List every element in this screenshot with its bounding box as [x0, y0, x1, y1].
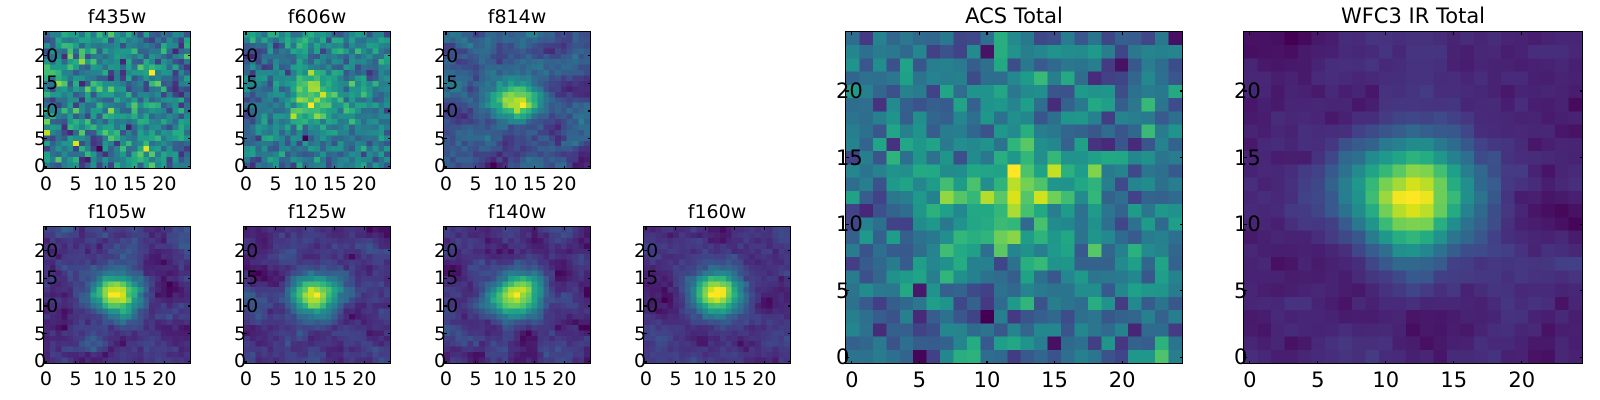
ytick-mark-right: [388, 361, 392, 362]
xtick-label: 20: [552, 369, 576, 389]
xtick-mark-top: [475, 31, 476, 35]
ytick-mark-right: [388, 166, 392, 167]
ytick-mark-right: [388, 55, 392, 56]
panel-title-f105w: f105w: [43, 201, 191, 223]
ytick-mark-right: [588, 138, 592, 139]
xtick-mark-top: [75, 226, 76, 230]
xtick-label: 20: [152, 174, 176, 194]
xtick-label: 15: [1440, 369, 1467, 391]
ytick-mark-right: [1180, 357, 1184, 358]
xtick-mark-top: [1521, 31, 1522, 35]
ytick-mark-right: [588, 110, 592, 111]
xtick-mark-top: [275, 31, 276, 35]
xtick-mark-top: [1317, 31, 1318, 35]
xtick-label: 10: [293, 174, 317, 194]
xtick-label: 0: [1243, 369, 1256, 391]
xtick-mark: [734, 361, 735, 365]
ytick-mark-right: [588, 250, 592, 251]
ytick-mark-right: [188, 305, 192, 306]
xtick-label: 10: [293, 369, 317, 389]
xtick-mark: [334, 361, 335, 365]
xtick-mark: [305, 361, 306, 365]
xtick-label: 10: [1372, 369, 1399, 391]
xtick-mark: [364, 361, 365, 365]
xtick-mark: [1453, 361, 1454, 365]
xtick-label: 15: [523, 174, 547, 194]
panel-title-f814w: f814w: [443, 6, 591, 28]
xtick-label: 5: [270, 369, 282, 389]
ytick-mark-right: [1580, 90, 1584, 91]
heatmap-image-f814w: [444, 32, 590, 168]
xtick-mark: [275, 361, 276, 365]
xtick-mark: [675, 361, 676, 365]
xtick-mark-top: [505, 31, 506, 35]
xtick-label: 20: [752, 369, 776, 389]
heatmap-image-f140w: [444, 227, 590, 363]
xtick-label: 5: [1311, 369, 1324, 391]
panel-f140w: f140w0055101015152020: [443, 226, 591, 364]
ytick-mark-right: [388, 83, 392, 84]
ytick-mark-right: [188, 166, 192, 167]
xtick-mark: [364, 166, 365, 170]
xtick-mark-top: [475, 226, 476, 230]
ytick-mark-right: [188, 83, 192, 84]
xtick-label: 10: [974, 369, 1001, 391]
heatmap-image-f105w: [44, 227, 190, 363]
xtick-mark: [164, 361, 165, 365]
heatmap-image-acs_total: [846, 32, 1182, 363]
xtick-mark-top: [764, 226, 765, 230]
ytick-mark-right: [788, 361, 792, 362]
ytick-mark-right: [388, 110, 392, 111]
xtick-mark: [764, 361, 765, 365]
xtick-label: 10: [493, 369, 517, 389]
ytick-mark-right: [188, 138, 192, 139]
image-frame-acs_total: [845, 31, 1183, 364]
xtick-mark: [134, 166, 135, 170]
xtick-mark-top: [275, 226, 276, 230]
xtick-label: 5: [913, 369, 926, 391]
xtick-label: 15: [123, 369, 147, 389]
xtick-mark: [75, 361, 76, 365]
xtick-mark-top: [986, 31, 987, 35]
xtick-mark-top: [364, 226, 365, 230]
ytick-mark-right: [788, 333, 792, 334]
xtick-mark-top: [45, 226, 46, 230]
panel-title-f606w: f606w: [243, 6, 391, 28]
xtick-mark: [334, 166, 335, 170]
ytick-mark-right: [1580, 290, 1584, 291]
ytick-mark-right: [188, 55, 192, 56]
xtick-label: 20: [352, 369, 376, 389]
xtick-mark: [1122, 361, 1123, 365]
xtick-mark-top: [334, 226, 335, 230]
xtick-mark: [105, 361, 106, 365]
xtick-label: 20: [552, 174, 576, 194]
xtick-mark-top: [164, 226, 165, 230]
xtick-mark-top: [675, 226, 676, 230]
image-frame-f140w: [443, 226, 591, 364]
xtick-mark-top: [164, 31, 165, 35]
image-frame-f125w: [243, 226, 391, 364]
ytick-mark-right: [388, 305, 392, 306]
xtick-mark-top: [1054, 31, 1055, 35]
xtick-mark: [505, 166, 506, 170]
xtick-mark: [305, 166, 306, 170]
ytick-mark-right: [588, 83, 592, 84]
ytick-mark-right: [188, 278, 192, 279]
xtick-mark-top: [245, 226, 246, 230]
xtick-mark-top: [919, 31, 920, 35]
ytick-mark-right: [188, 361, 192, 362]
ytick-mark-right: [588, 55, 592, 56]
xtick-label: 15: [323, 174, 347, 194]
xtick-mark: [475, 361, 476, 365]
ytick-mark-right: [188, 250, 192, 251]
figure-canvas: f435w0055101015152020f606w00551010151520…: [0, 0, 1600, 400]
ytick-mark-right: [588, 166, 592, 167]
ytick-mark-right: [788, 305, 792, 306]
xtick-mark-top: [564, 226, 565, 230]
image-frame-f814w: [443, 31, 591, 169]
xtick-label: 20: [1508, 369, 1535, 391]
image-frame-f160w: [643, 226, 791, 364]
xtick-mark: [1054, 361, 1055, 365]
xtick-label: 20: [152, 369, 176, 389]
image-frame-wfc3_ir_total: [1243, 31, 1583, 364]
xtick-mark: [1385, 361, 1386, 365]
xtick-mark-top: [75, 31, 76, 35]
ytick-mark-right: [588, 278, 592, 279]
ytick-mark-right: [1180, 90, 1184, 91]
ytick-mark-right: [1180, 290, 1184, 291]
xtick-mark-top: [105, 31, 106, 35]
xtick-label: 5: [270, 174, 282, 194]
panel-title-acs_total: ACS Total: [845, 4, 1183, 28]
xtick-label: 5: [470, 174, 482, 194]
panel-f160w: f160w0055101015152020: [643, 226, 791, 364]
ytick-mark-right: [588, 333, 592, 334]
ytick-mark-right: [788, 278, 792, 279]
xtick-mark-top: [105, 226, 106, 230]
image-frame-f105w: [43, 226, 191, 364]
image-frame-f606w: [243, 31, 391, 169]
xtick-mark-top: [705, 226, 706, 230]
ytick-mark-right: [188, 110, 192, 111]
xtick-mark-top: [1122, 31, 1123, 35]
xtick-mark-top: [445, 31, 446, 35]
ytick-mark-right: [388, 333, 392, 334]
ytick-mark-right: [1580, 157, 1584, 158]
xtick-label: 5: [670, 369, 682, 389]
panel-f435w: f435w0055101015152020: [43, 31, 191, 169]
ytick-mark-right: [388, 138, 392, 139]
ytick-mark-right: [388, 250, 392, 251]
xtick-mark: [275, 166, 276, 170]
heatmap-image-f160w: [644, 227, 790, 363]
panel-wfc3_ir_total: WFC3 IR Total0055101015152020: [1243, 31, 1583, 364]
xtick-mark-top: [334, 31, 335, 35]
panel-f105w: f105w0055101015152020: [43, 226, 191, 364]
xtick-label: 10: [693, 369, 717, 389]
ytick-mark-right: [1180, 224, 1184, 225]
xtick-mark: [851, 361, 852, 365]
xtick-mark-top: [1453, 31, 1454, 35]
xtick-label: 20: [1109, 369, 1136, 391]
xtick-mark: [105, 166, 106, 170]
xtick-mark-top: [445, 226, 446, 230]
panel-title-f125w: f125w: [243, 201, 391, 223]
xtick-mark: [986, 361, 987, 365]
xtick-mark: [534, 166, 535, 170]
xtick-mark-top: [1249, 31, 1250, 35]
heatmap-image-f125w: [244, 227, 390, 363]
xtick-mark: [564, 166, 565, 170]
panel-title-wfc3_ir_total: WFC3 IR Total: [1243, 4, 1583, 28]
xtick-label: 10: [93, 369, 117, 389]
panel-title-f140w: f140w: [443, 201, 591, 223]
image-frame-f435w: [43, 31, 191, 169]
xtick-mark-top: [1385, 31, 1386, 35]
panel-title-f435w: f435w: [43, 6, 191, 28]
xtick-mark-top: [305, 226, 306, 230]
xtick-label: 10: [93, 174, 117, 194]
xtick-label: 10: [493, 174, 517, 194]
panel-acs_total: ACS Total0055101015152020: [845, 31, 1183, 364]
ytick-mark-right: [188, 333, 192, 334]
xtick-label: 5: [470, 369, 482, 389]
ytick-mark-right: [588, 361, 592, 362]
xtick-mark: [505, 361, 506, 365]
xtick-mark-top: [851, 31, 852, 35]
xtick-label: 15: [323, 369, 347, 389]
xtick-mark-top: [134, 226, 135, 230]
heatmap-image-f435w: [44, 32, 190, 168]
xtick-mark-top: [534, 226, 535, 230]
ytick-mark-right: [788, 250, 792, 251]
xtick-mark-top: [364, 31, 365, 35]
xtick-mark: [1317, 361, 1318, 365]
xtick-mark: [564, 361, 565, 365]
xtick-mark-top: [734, 226, 735, 230]
xtick-mark-top: [305, 31, 306, 35]
panel-f125w: f125w0055101015152020: [243, 226, 391, 364]
xtick-mark: [75, 166, 76, 170]
xtick-mark-top: [564, 31, 565, 35]
xtick-mark-top: [245, 31, 246, 35]
xtick-label: 0: [845, 369, 858, 391]
xtick-mark-top: [534, 31, 535, 35]
xtick-label: 20: [352, 174, 376, 194]
xtick-mark-top: [45, 31, 46, 35]
panel-f814w: f814w0055101015152020: [443, 31, 591, 169]
xtick-mark: [164, 166, 165, 170]
ytick-mark-right: [1580, 357, 1584, 358]
xtick-mark-top: [134, 31, 135, 35]
xtick-label: 15: [1041, 369, 1068, 391]
panel-f606w: f606w0055101015152020: [243, 31, 391, 169]
xtick-label: 15: [523, 369, 547, 389]
xtick-label: 15: [123, 174, 147, 194]
panel-title-f160w: f160w: [643, 201, 791, 223]
xtick-label: 15: [723, 369, 747, 389]
ytick-mark-right: [1580, 224, 1584, 225]
xtick-mark: [705, 361, 706, 365]
xtick-mark-top: [505, 226, 506, 230]
xtick-label: 5: [70, 174, 82, 194]
xtick-mark-top: [645, 226, 646, 230]
xtick-mark: [1249, 361, 1250, 365]
ytick-mark-right: [388, 278, 392, 279]
heatmap-image-wfc3_ir_total: [1244, 32, 1582, 363]
xtick-label: 5: [70, 369, 82, 389]
ytick-mark-right: [588, 305, 592, 306]
xtick-mark: [134, 361, 135, 365]
heatmap-image-f606w: [244, 32, 390, 168]
xtick-mark: [534, 361, 535, 365]
xtick-mark: [919, 361, 920, 365]
xtick-mark: [475, 166, 476, 170]
ytick-mark-right: [1180, 157, 1184, 158]
xtick-mark: [1521, 361, 1522, 365]
